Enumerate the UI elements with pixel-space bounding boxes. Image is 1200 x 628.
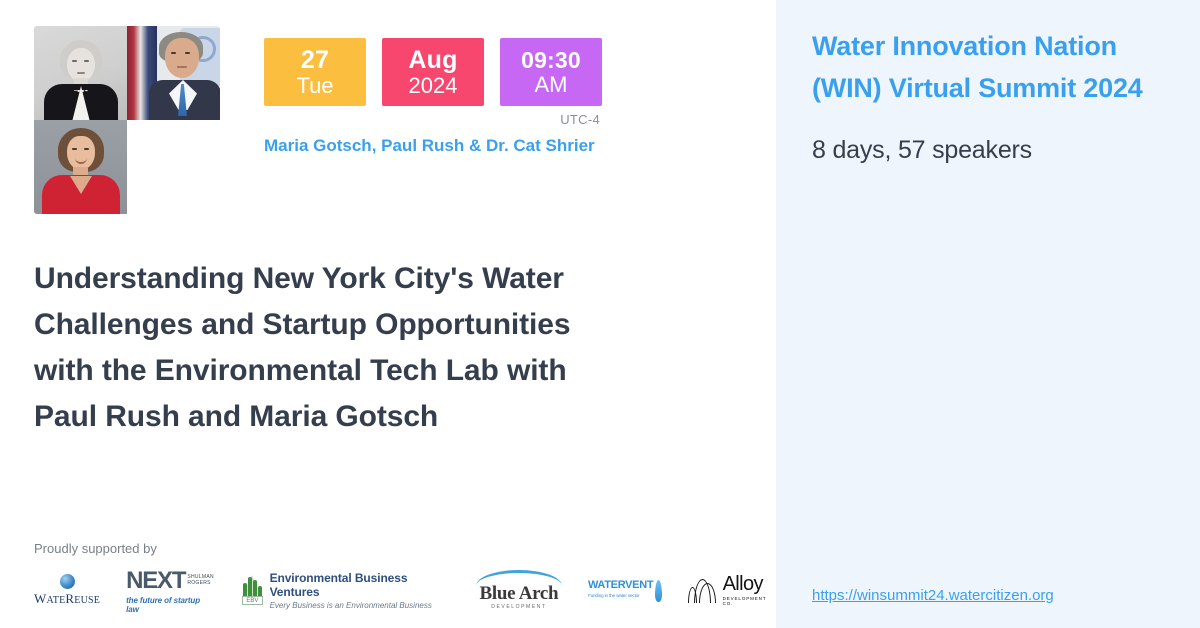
time-badge: 09:30 AM (500, 38, 602, 106)
sponsor-logo-watervent[interactable]: WATERVENT Funding in the water sector (588, 579, 662, 602)
sponsor-logo-blue-arch-development[interactable]: Blue Arch DEVELOPMENT (476, 570, 562, 610)
event-panel: Water Innovation Nation (WIN) Virtual Su… (776, 0, 1200, 628)
datetime-badges: 27 Tue Aug 2024 09:30 AM (264, 38, 604, 106)
sponsor-logo-alloy-development[interactable]: Alloy DEVELOPMENT CO. (688, 574, 776, 606)
event-promo-card: 27 Tue Aug 2024 09:30 AM UTC-4 Maria Got… (0, 0, 1200, 628)
sponsor-logo-blue-arch-subtitle: DEVELOPMENT (491, 604, 546, 610)
speaker-photo-cat-shrier (34, 120, 127, 214)
sponsor-logo-next-wordmark: NEXT (126, 567, 185, 595)
speaker-photo-paul-rush (127, 26, 220, 120)
ebv-leaf-icon: EBV (240, 575, 263, 605)
date-badge-day-name: Tue (296, 74, 333, 97)
date-badge: 27 Tue (264, 38, 366, 106)
date-badge-day-number: 27 (301, 47, 329, 73)
event-stats: 8 days, 57 speakers (812, 136, 1170, 165)
time-badge-time: 09:30 (521, 48, 581, 72)
speaker-photo-grid (34, 26, 220, 214)
timezone-label: UTC-4 (264, 112, 600, 127)
time-badge-meridiem: AM (535, 73, 568, 96)
session-panel: 27 Tue Aug 2024 09:30 AM UTC-4 Maria Got… (0, 0, 776, 628)
sponsor-logo-next-shulman-rogers[interactable]: NEXT SHULMAN ROGERS the future of startu… (126, 567, 214, 614)
globe-icon (60, 574, 75, 589)
speaker-photo-maria-gotsch (34, 26, 127, 120)
session-title: Understanding New York City's Water Chal… (34, 256, 594, 440)
sponsor-logo-watervent-title: WATERVENT (588, 579, 653, 591)
sponsor-logo-alloy-title: Alloy (723, 574, 776, 594)
month-badge: Aug 2024 (382, 38, 484, 106)
sponsor-logo-watereuse-text: WATEREUSE (34, 591, 100, 607)
sponsor-logo-environmental-business-ventures[interactable]: EBV Environmental Business Ventures Ever… (240, 571, 450, 610)
sponsor-logo-ebv-title: Environmental Business Ventures (270, 571, 450, 599)
ebv-abbr: EBV (242, 596, 263, 605)
firm-line-1: SHULMAN (187, 574, 214, 580)
sponsor-logo-next-tagline: the future of startup law (126, 596, 214, 614)
alloy-arches-icon (688, 577, 716, 603)
sponsor-logo-row: WATEREUSE NEXT SHULMAN ROGERS the future… (34, 570, 776, 610)
water-drop-icon (655, 580, 662, 602)
sponsor-logo-alloy-subtitle: DEVELOPMENT CO. (723, 596, 776, 606)
event-title: Water Innovation Nation (WIN) Virtual Su… (812, 26, 1170, 110)
sponsors-section: Proudly supported by WATEREUSE NEXT SHUL… (34, 541, 776, 610)
sponsors-label: Proudly supported by (34, 541, 776, 556)
firm-line-2: ROGERS (187, 580, 210, 586)
month-badge-year: 2024 (409, 74, 458, 97)
sponsor-logo-next-firm: SHULMAN ROGERS (187, 574, 214, 587)
month-badge-month: Aug (408, 47, 457, 73)
session-header: 27 Tue Aug 2024 09:30 AM UTC-4 Maria Got… (34, 26, 776, 214)
speaker-photo-placeholder (127, 120, 220, 214)
sponsor-logo-watervent-tagline: Funding in the water sector (588, 593, 653, 598)
event-url-link[interactable]: https://winsummit24.watercitizen.org (812, 587, 1054, 604)
speakers-line: Maria Gotsch, Paul Rush & Dr. Cat Shrier (264, 132, 608, 159)
sponsor-logo-blue-arch-title: Blue Arch (480, 583, 559, 605)
session-meta: 27 Tue Aug 2024 09:30 AM UTC-4 Maria Got… (264, 26, 604, 159)
sponsor-logo-ebv-tagline: Every Business is an Environmental Busin… (270, 601, 450, 610)
sponsor-logo-watereuse[interactable]: WATEREUSE (34, 574, 100, 607)
